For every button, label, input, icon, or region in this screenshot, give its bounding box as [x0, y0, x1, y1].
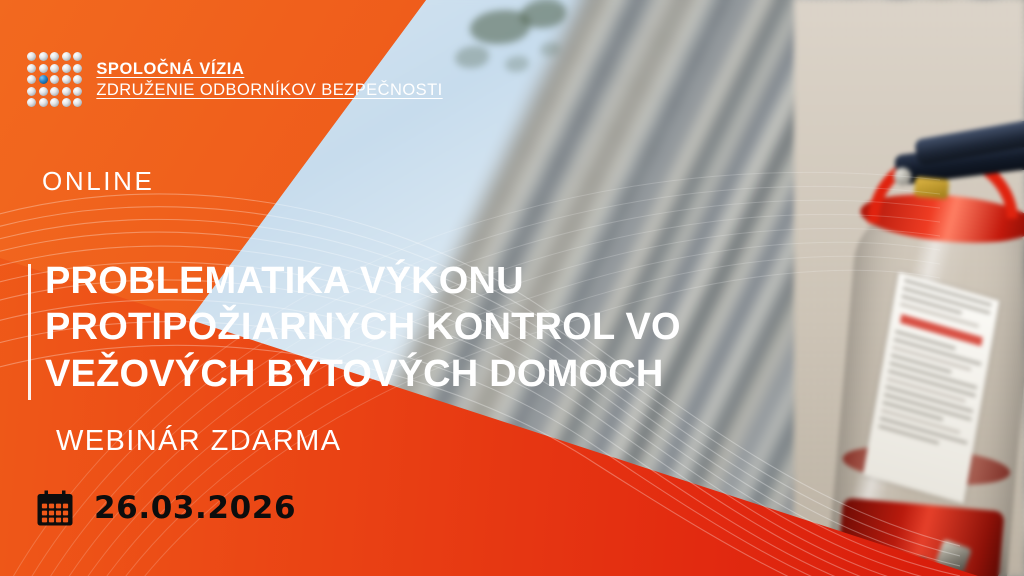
- format-kicker: ONLINE: [42, 166, 154, 197]
- logo-wordmark: SPOLOČNÁ VÍZIA ZDRUŽENIE ODBORNÍKOV BEZP…: [96, 60, 442, 100]
- page-title: PROBLEMATIKA VÝKONU PROTIPOŽIARNYCH KONT…: [45, 258, 745, 397]
- title-line-1: PROBLEMATIKA VÝKONU: [45, 258, 745, 304]
- logo-line-secondary: ZDRUŽENIE ODBORNÍKOV BEZPEČNOSTI: [96, 81, 442, 100]
- title-accent-bar: [28, 264, 31, 400]
- event-date-text: 26.03.2026: [94, 490, 296, 526]
- title-line-3: VEŽOVÝCH BYTOVÝCH DOMOCH: [45, 351, 745, 397]
- logo-line-primary: SPOLOČNÁ VÍZIA: [96, 60, 244, 79]
- event-date: 26.03.2026: [34, 487, 296, 529]
- dot-grid-logo-icon: [27, 52, 82, 107]
- calendar-icon: [34, 487, 76, 529]
- webinar-banner: SPOLOČNÁ VÍZIA ZDRUŽENIE ODBORNÍKOV BEZP…: [0, 0, 1024, 576]
- title-line-2: PROTIPOŽIARNYCH KONTROL VO: [45, 304, 745, 350]
- price-kicker: WEBINÁR ZDARMA: [56, 425, 341, 458]
- organisation-logo[interactable]: SPOLOČNÁ VÍZIA ZDRUŽENIE ODBORNÍKOV BEZP…: [27, 52, 443, 107]
- banner-content: SPOLOČNÁ VÍZIA ZDRUŽENIE ODBORNÍKOV BEZP…: [0, 0, 1024, 576]
